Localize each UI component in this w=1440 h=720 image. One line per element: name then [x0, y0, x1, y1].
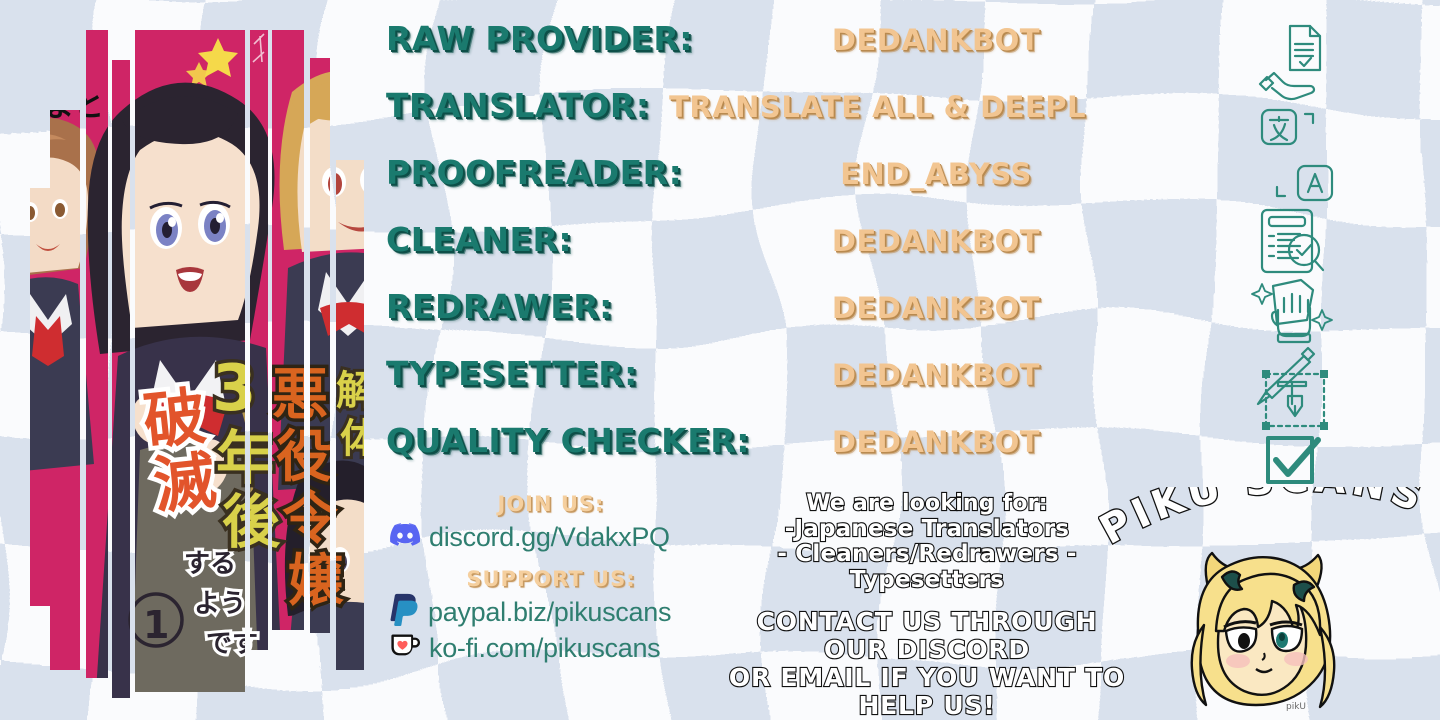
document-magnifier-check-icon: [1262, 210, 1323, 272]
credit-row: REDRAWER: DEDANKBOT: [386, 290, 1086, 357]
cover-collage: とまと 破 滅 する よう です 3 年 後: [0, 0, 380, 720]
community-links: JOIN US: discord.gg/VdakxPQ SUPPORT US: …: [386, 492, 716, 666]
credit-role-value: DEDANKBOT: [786, 361, 1086, 390]
join-us-heading: JOIN US:: [386, 492, 716, 516]
recruit-line-5: OR EMAIL IF YOU WANT TO HELP US!: [722, 664, 1132, 720]
mascot-avatar: pikU: [1168, 533, 1358, 720]
credit-role-label: QUALITY CHECKER:: [386, 424, 786, 457]
credit-role-value: DEDANKBOT: [786, 294, 1086, 323]
cover-slices: [0, 0, 380, 720]
credit-role-value: DEDANKBOT: [786, 428, 1086, 457]
recruit-line-3: - Cleaners/Redrawers - Typesetters: [722, 542, 1132, 594]
translate-language-icon: [1262, 110, 1332, 200]
credit-row: PROOFREADER: END_ABYSS: [386, 156, 1086, 223]
role-icon-column: [1248, 18, 1344, 488]
kofi-link[interactable]: ko-fi.com/pikuscans: [386, 630, 716, 666]
credit-row: RAW PROVIDER: DEDANKBOT: [386, 22, 1086, 89]
credit-role-label: REDRAWER:: [386, 290, 786, 323]
discord-link[interactable]: discord.gg/VdakxPQ: [386, 519, 716, 555]
checkbox-check-icon: [1268, 438, 1318, 482]
mascot-signature: pikU: [1286, 702, 1306, 712]
credits-list: RAW PROVIDER: DEDANKBOT TRANSLATOR: TRAN…: [386, 22, 1086, 491]
paypal-link-label: paypal.biz/pikuscans: [428, 599, 671, 626]
hand-holding-document-icon: [1260, 26, 1320, 99]
credit-role-value: DEDANKBOT: [786, 227, 1086, 256]
credit-role-label: TRANSLATOR:: [386, 89, 669, 122]
credit-row: TYPESETTER: DEDANKBOT: [386, 357, 1086, 424]
paypal-link[interactable]: paypal.biz/pikuscans: [386, 594, 716, 630]
brand-block: PIKU SCANS: [1090, 485, 1440, 720]
credit-role-label: TYPESETTER:: [386, 357, 786, 390]
credit-role-value: END_ABYSS: [786, 160, 1086, 189]
credit-role-label: CLEANER:: [386, 223, 786, 256]
credits-page: とまと 破 滅 する よう です 3 年 後: [0, 0, 1440, 720]
recruit-line-2: -Japanese Translators: [722, 517, 1132, 543]
kofi-link-label: ko-fi.com/pikuscans: [429, 635, 660, 662]
text-pen-selection-icon: [1262, 370, 1328, 430]
credit-role-value: DEDANKBOT: [786, 26, 1086, 55]
kofi-icon: [390, 632, 420, 664]
credit-row: CLEANER: DEDANKBOT: [386, 223, 1086, 290]
credit-row: QUALITY CHECKER: DEDANKBOT: [386, 424, 1086, 491]
paypal-icon: [390, 593, 419, 631]
credit-row: TRANSLATOR: TRANSLATE ALL & DEEPL: [386, 89, 1086, 156]
hand-cleaning-cloth-icon: [1252, 280, 1332, 342]
discord-link-label: discord.gg/VdakxPQ: [429, 524, 670, 551]
recruiting-notice: We are looking for: -Japanese Translator…: [722, 492, 1132, 720]
credit-role-label: PROOFREADER:: [386, 156, 786, 189]
recruit-line-4: CONTACT US THROUGH OUR DISCORD: [722, 608, 1132, 664]
credit-role-value: TRANSLATE ALL & DEEPL: [669, 93, 1086, 122]
support-us-heading: SUPPORT US:: [386, 567, 716, 591]
discord-icon: [390, 523, 420, 552]
recruit-line-1: We are looking for:: [722, 492, 1132, 517]
credit-role-label: RAW PROVIDER:: [386, 22, 786, 55]
